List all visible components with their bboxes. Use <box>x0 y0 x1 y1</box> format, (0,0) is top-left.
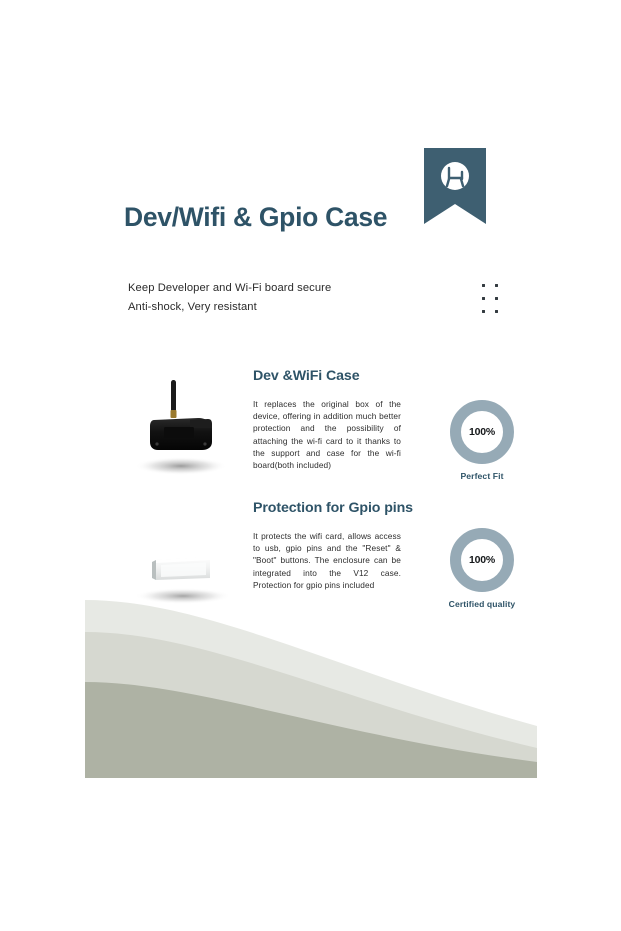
dot <box>495 310 498 313</box>
wave-decoration <box>85 600 537 778</box>
black-wifi-case-with-antenna-photo <box>128 370 234 480</box>
donut-chart-1: 100% <box>450 400 514 464</box>
subtitle-block: Keep Developer and Wi-Fi board secure An… <box>128 279 331 317</box>
dot <box>495 284 498 287</box>
dot <box>482 284 485 287</box>
feature-title-1: Dev &WiFi Case <box>253 368 360 384</box>
donut-label-2: Certified quality <box>437 599 527 609</box>
feature-body-2: It protects the wifi card, allows access… <box>253 530 401 591</box>
subtitle-line-2: Anti-shock, Very resistant <box>128 298 331 317</box>
subtitle-line-1: Keep Developer and Wi-Fi board secure <box>128 279 331 298</box>
donut-label-1: Perfect Fit <box>437 471 527 481</box>
chair-icon-background <box>441 162 469 190</box>
page-title: Dev/Wifi & Gpio Case <box>124 202 387 233</box>
dot <box>482 310 485 313</box>
badge-certified-quality: 100% Certified quality <box>437 528 527 609</box>
poster-page: Dev/Wifi & Gpio Case Keep Developer and … <box>0 0 621 931</box>
white-gpio-protection-bar-photo <box>128 530 238 610</box>
badge-perfect-fit: 100% Perfect Fit <box>437 400 527 481</box>
dot <box>482 297 485 300</box>
donut-value-2: 100% <box>450 528 514 592</box>
layered-wave-graphic <box>85 600 537 778</box>
donut-chart-2: 100% <box>450 528 514 592</box>
feature-body-1: It replaces the original box of the devi… <box>253 398 401 471</box>
bookmark-ribbon-icon <box>424 148 486 224</box>
dot-grid-decoration <box>482 284 508 323</box>
donut-value-1: 100% <box>450 400 514 464</box>
feature-title-2: Protection for Gpio pins <box>253 500 413 516</box>
dot <box>495 297 498 300</box>
